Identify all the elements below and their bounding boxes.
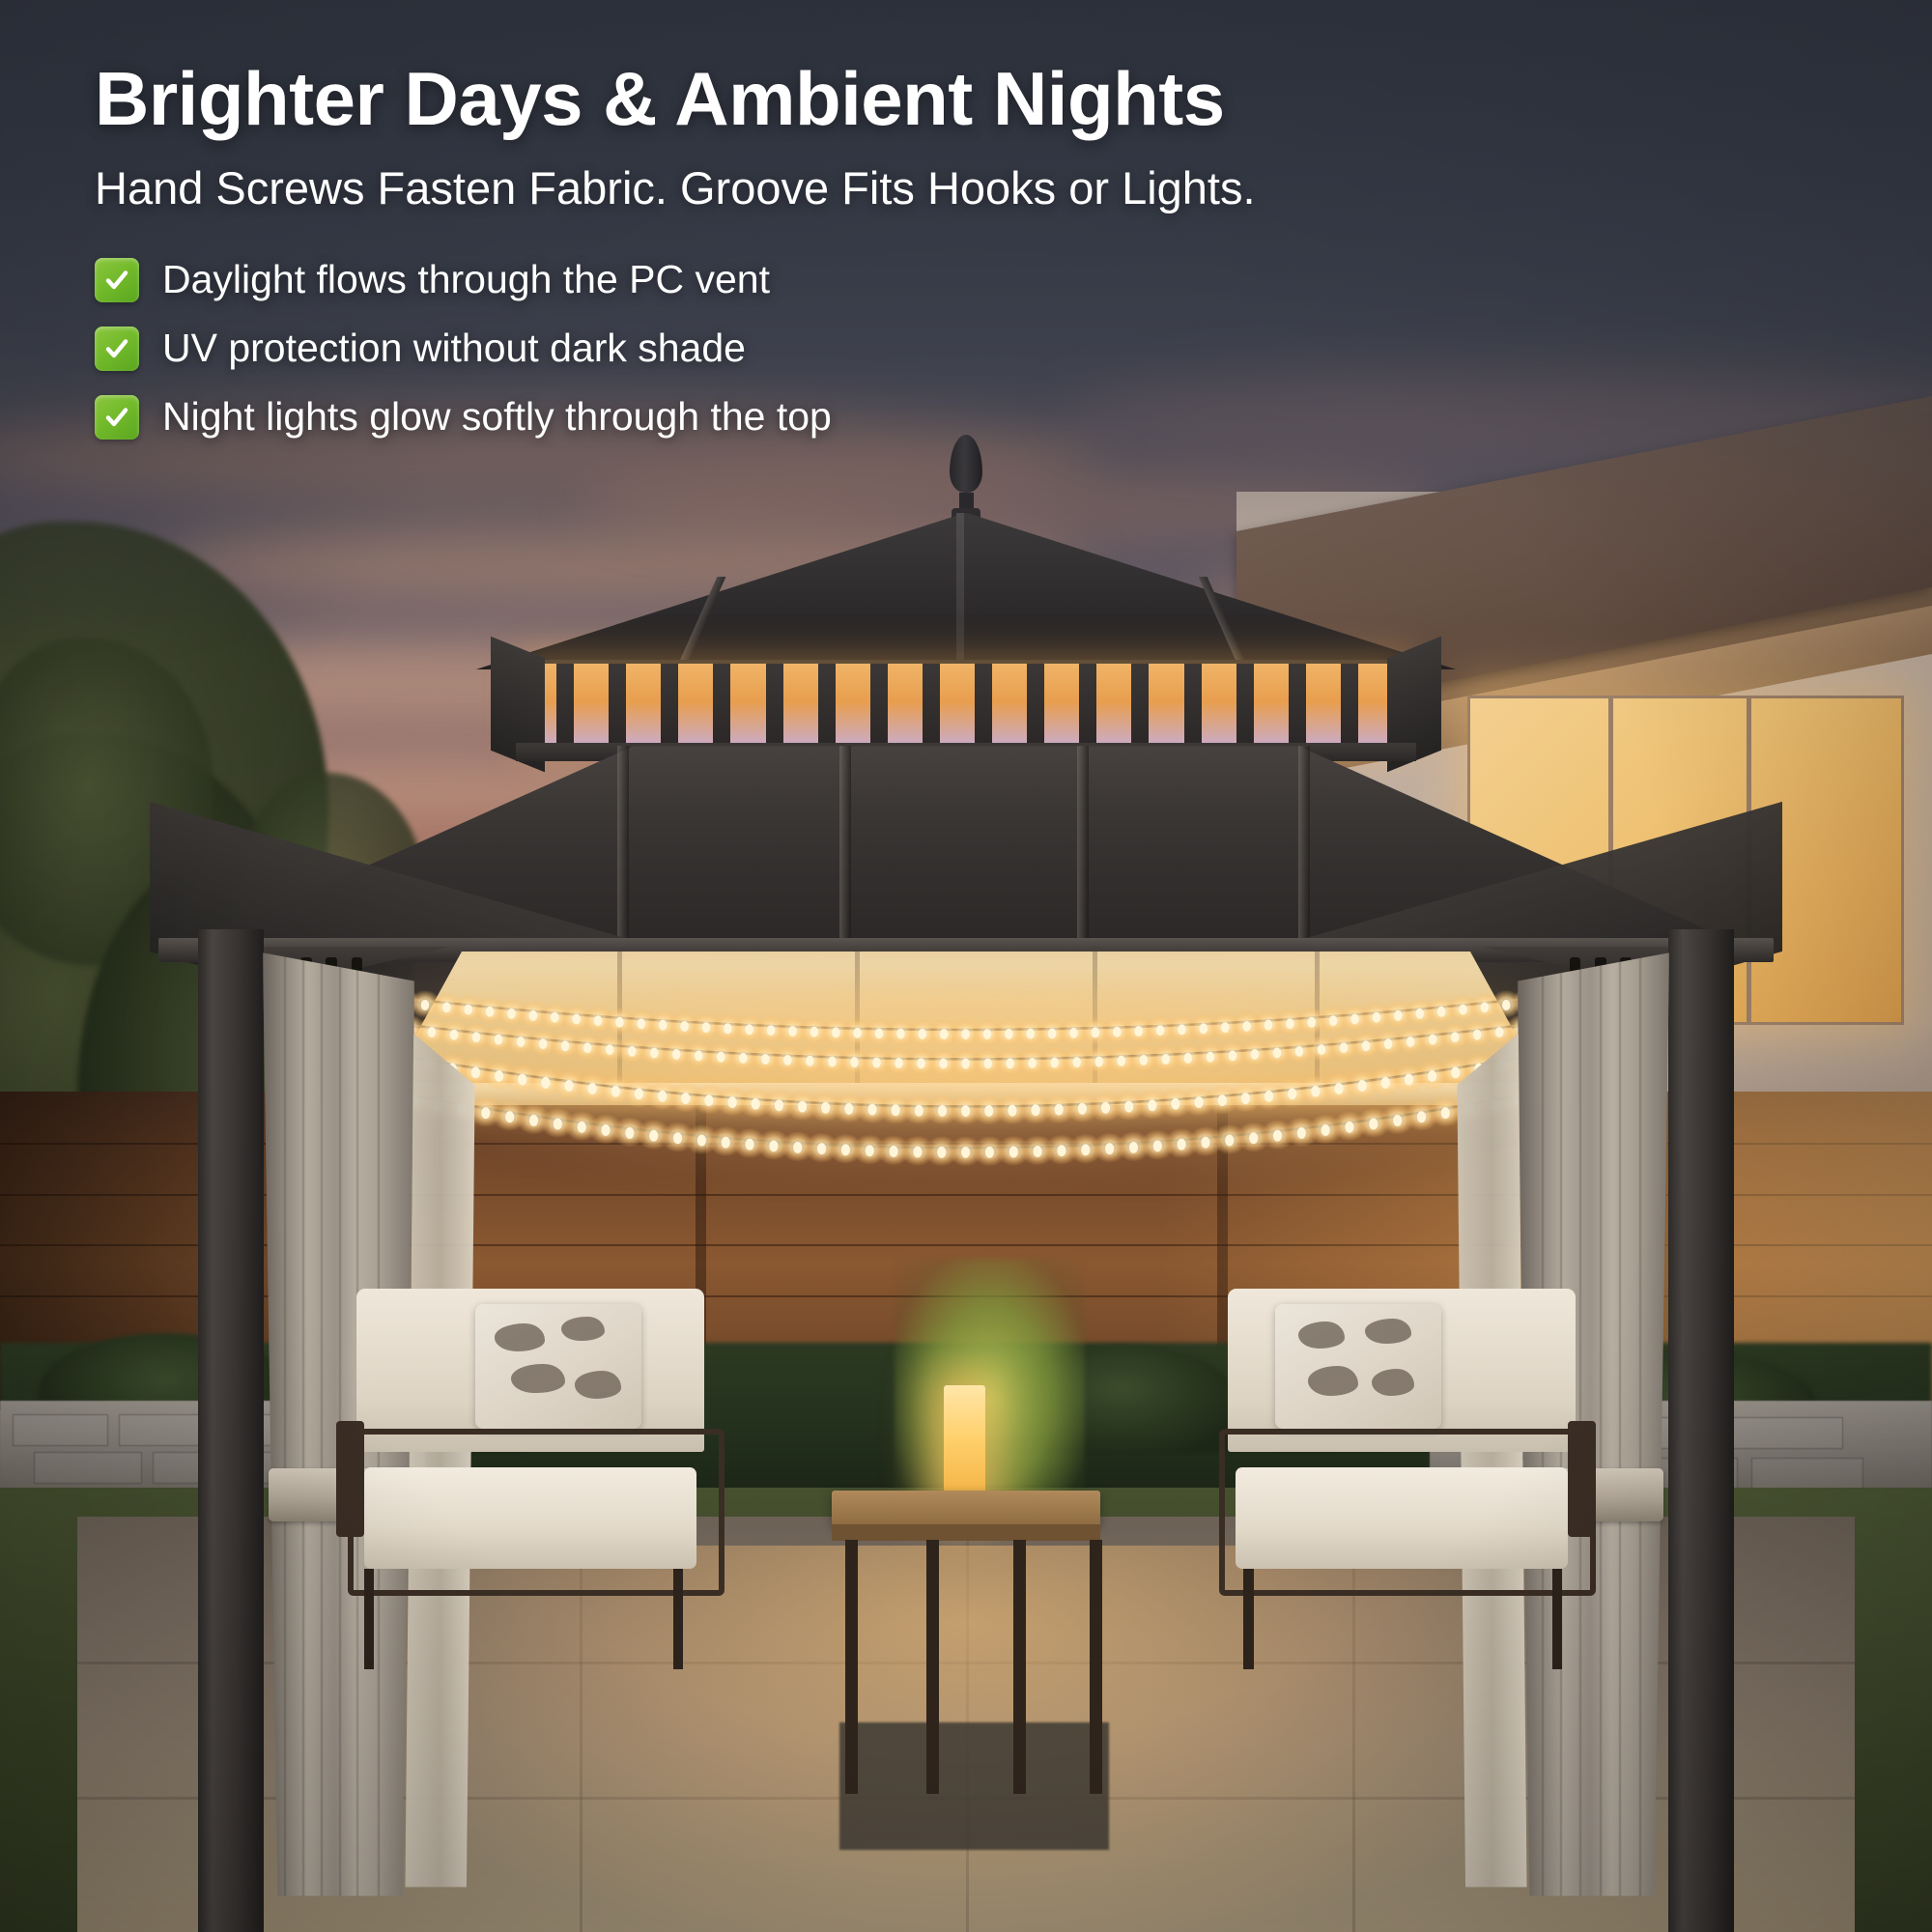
hardtop-gazebo	[174, 435, 1758, 1932]
feature-text: Daylight flows through the PC vent	[162, 258, 770, 301]
patio-sofa-right	[1204, 1289, 1600, 1678]
pc-vent-band	[530, 664, 1402, 748]
headline: Brighter Days & Ambient Nights	[95, 60, 1932, 138]
patio-sofa-left	[332, 1289, 728, 1678]
text-overlay: Brighter Days & Ambient Nights Hand Scre…	[0, 0, 1932, 464]
feature-list: Daylight flows through the PC vent UV pr…	[95, 258, 1932, 440]
subheadline: Hand Screws Fasten Fabric. Groove Fits H…	[95, 163, 1932, 213]
list-item: UV protection without dark shade	[95, 327, 1932, 371]
feature-text: UV protection without dark shade	[162, 327, 746, 370]
list-item: Night lights glow softly through the top	[95, 395, 1932, 440]
feature-text: Night lights glow softly through the top	[162, 395, 832, 439]
gazebo-post-right	[1668, 929, 1735, 1932]
green-check-icon	[95, 327, 139, 371]
string-lights	[348, 974, 1583, 1213]
throw-pillow	[1275, 1304, 1441, 1429]
product-feature-banner: Brighter Days & Ambient Nights Hand Scre…	[0, 0, 1932, 1932]
green-check-icon	[95, 258, 139, 302]
list-item: Daylight flows through the PC vent	[95, 258, 1932, 302]
potted-plant	[895, 1259, 1085, 1514]
throw-pillow	[475, 1304, 641, 1429]
green-check-icon	[95, 395, 139, 440]
coffee-table-edge	[832, 1524, 1101, 1541]
floor-mat	[839, 1722, 1109, 1850]
coffee-table-top	[832, 1491, 1101, 1526]
gazebo-post-left	[198, 929, 265, 1932]
